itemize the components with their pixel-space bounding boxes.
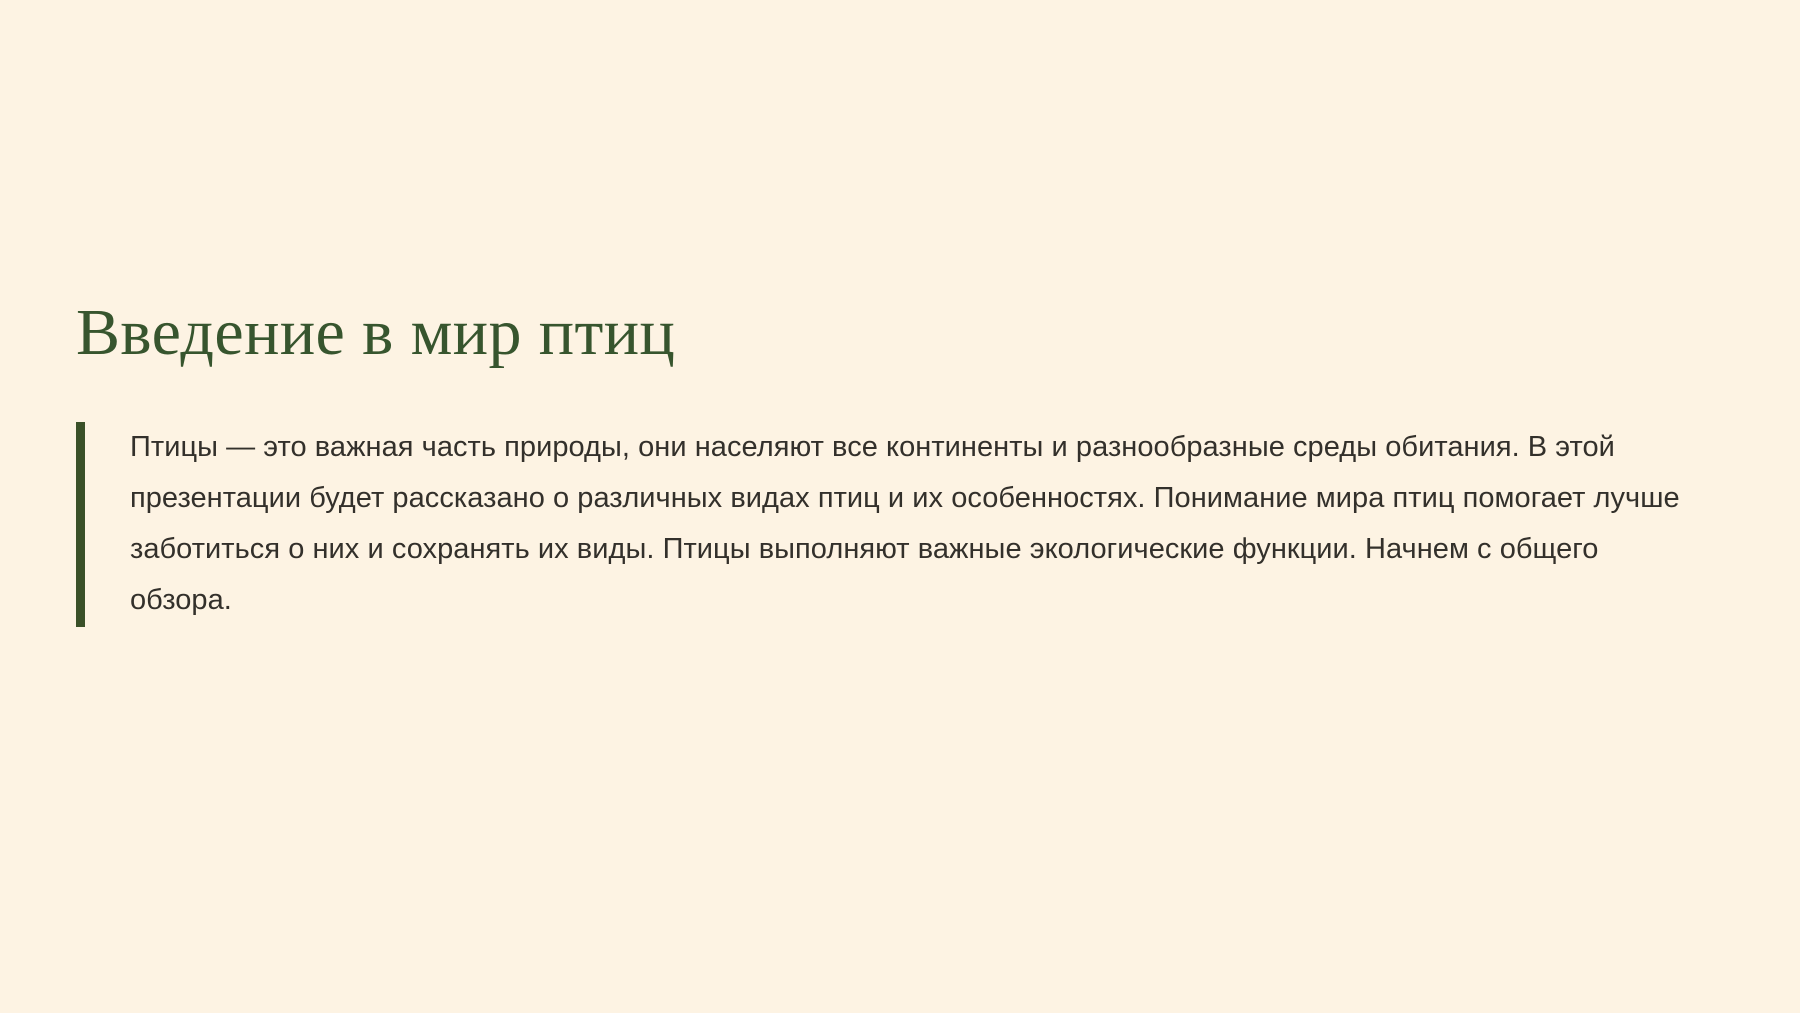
presentation-slide: Введение в мир птиц Птицы — это важная ч… xyxy=(0,0,1800,1013)
body-block: Птицы — это важная часть природы, они на… xyxy=(76,422,1716,627)
body-paragraph: Птицы — это важная часть природы, они на… xyxy=(130,422,1700,626)
slide-content: Введение в мир птиц Птицы — это важная ч… xyxy=(76,300,1716,627)
page-title: Введение в мир птиц xyxy=(76,300,1716,366)
accent-bar xyxy=(76,422,85,627)
